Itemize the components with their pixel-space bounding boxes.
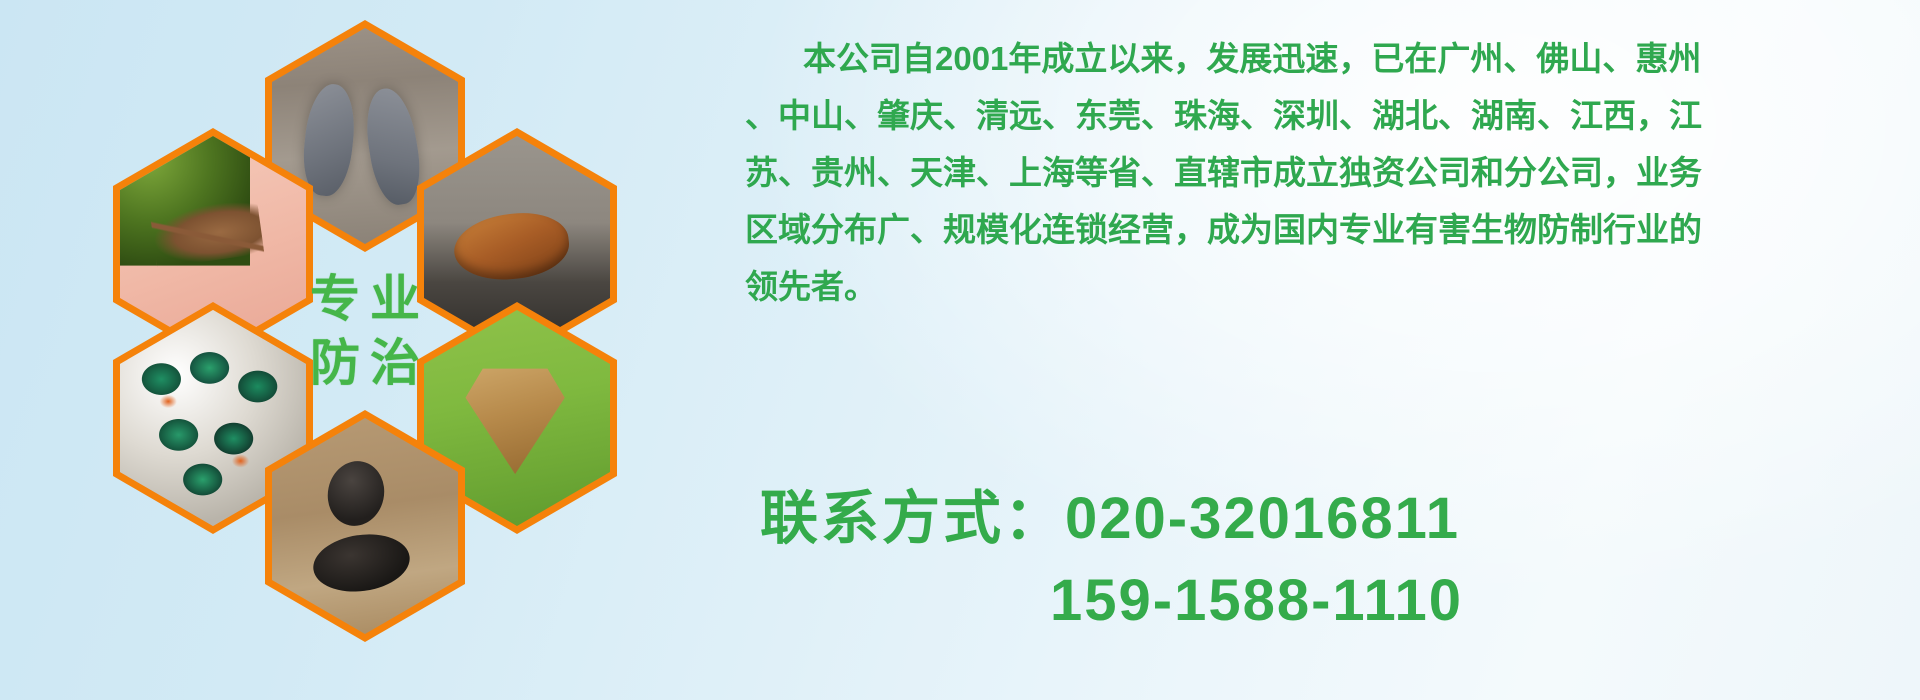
about-line-2: 、中山、肇庆、清远、东莞、珠海、深圳、湖北、湖南、江西，江	[745, 87, 1875, 144]
copy-column: 本公司自2001年成立以来，发展迅速，已在广州、佛山、惠州 、中山、肇庆、清远、…	[745, 30, 1875, 315]
contact-label: 联系方式：	[760, 486, 1065, 551]
about-paragraph: 本公司自2001年成立以来，发展迅速，已在广州、佛山、惠州 、中山、肇庆、清远、…	[745, 30, 1875, 315]
center-label-line-1: 专业	[300, 272, 430, 326]
contact-secondary-line: 159-1588-1110	[760, 560, 1880, 642]
center-label-line-2: 防治	[300, 336, 430, 390]
about-line-5: 领先者。	[745, 258, 1875, 315]
honeycomb-image-cluster: 专业 防治	[105, 10, 705, 690]
about-line-1: 本公司自2001年成立以来，发展迅速，已在广州、佛山、惠州	[745, 30, 1875, 87]
phone-primary[interactable]: 020-32016811	[1065, 486, 1460, 551]
contact-block: 联系方式：020-32016811 159-1588-1110	[760, 478, 1880, 642]
hex-inner-ant	[272, 418, 458, 634]
honeycomb-center-label: 专业 防治	[265, 215, 465, 447]
promo-banner: 专业 防治 本公司自2001年成立以来，发展迅速，已在广州、佛山、惠州 、中山、…	[0, 0, 1920, 700]
about-line-4: 区域分布广、规模化连锁经营，成为国内专业有害生物防制行业的	[745, 201, 1875, 258]
ant-photo-icon	[272, 418, 458, 634]
contact-primary-line: 联系方式：020-32016811	[760, 478, 1880, 560]
about-line-3: 苏、贵州、天津、上海等省、直辖市成立独资公司和分公司，业务	[745, 144, 1875, 201]
phone-secondary[interactable]: 159-1588-1110	[1050, 568, 1463, 633]
